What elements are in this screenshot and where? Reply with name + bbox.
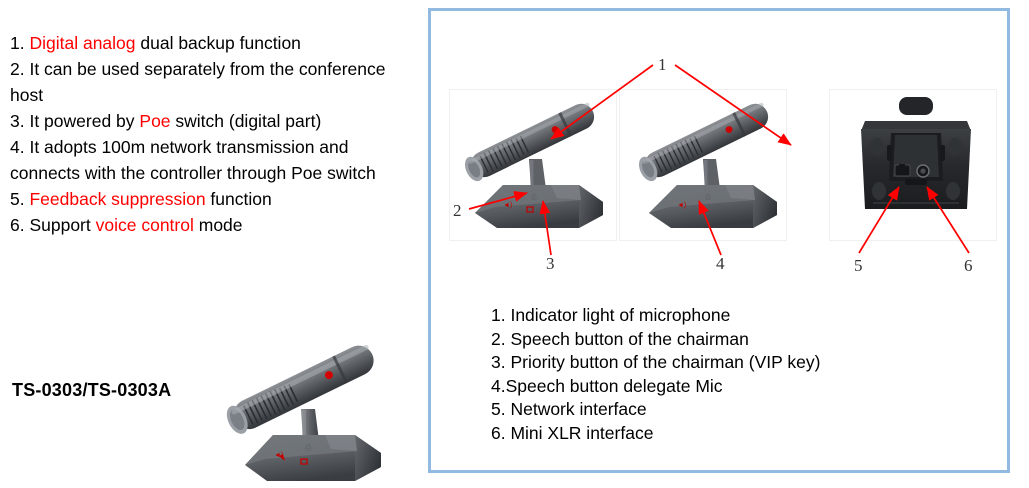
arrow-2 — [469, 193, 527, 209]
callout-number-6: 6 — [964, 256, 973, 276]
arrow-6 — [927, 187, 969, 253]
feature-item-1: 1. Digital analog dual backup function — [10, 30, 415, 56]
feature-item-5: 5. Feedback suppression function — [10, 186, 415, 212]
callout-number-5: 5 — [854, 256, 863, 276]
legend-item-5: 5. Network interface — [491, 398, 820, 422]
callout-number-1: 1 — [658, 55, 667, 75]
feature-item-2: 2. It can be used separately from the co… — [10, 56, 415, 108]
legend-item-1: 1. Indicator light of microphone — [491, 304, 820, 328]
feature-highlight-poe: Poe — [139, 111, 170, 131]
diagram-panel: ◄) ⎙ ◄) ⎙ — [428, 8, 1010, 473]
arrow-4 — [699, 201, 721, 255]
feature-item-6: 6. Support voice control mode — [10, 212, 415, 238]
arrow-5 — [859, 187, 899, 253]
product-model-label: TS-0303/TS-0303A — [12, 380, 171, 401]
callout-number-3: 3 — [546, 254, 555, 274]
svg-text:◄): ◄) — [274, 452, 283, 459]
arrow-1-right — [675, 65, 791, 145]
legend-item-4: 4.Speech button delegate Mic — [491, 375, 820, 399]
legend-item-6: 6. Mini XLR interface — [491, 422, 820, 446]
feature-item-4: 4. It adopts 100m network transmission a… — [10, 134, 415, 186]
callout-number-2: 2 — [453, 201, 462, 221]
feature-list: 1. Digital analog dual backup function 2… — [10, 30, 415, 238]
arrow-3 — [543, 201, 551, 255]
hero-microphone-image: ◄) ⎙ — [205, 325, 410, 485]
feature-highlight-digital-analog: Digital analog — [29, 33, 135, 53]
legend-item-2: 2. Speech button of the chairman — [491, 328, 820, 352]
legend-list: 1. Indicator light of microphone 2. Spee… — [491, 304, 820, 445]
callout-number-4: 4 — [716, 254, 725, 274]
arrow-1-left — [551, 65, 653, 139]
svg-text:⎙: ⎙ — [305, 443, 312, 452]
feature-highlight-feedback-suppression: Feedback suppression — [29, 189, 205, 209]
feature-highlight-voice-control: voice control — [96, 215, 194, 235]
legend-item-3: 3. Priority button of the chairman (VIP … — [491, 351, 820, 375]
feature-item-3: 3. It powered by Poe switch (digital par… — [10, 108, 415, 134]
